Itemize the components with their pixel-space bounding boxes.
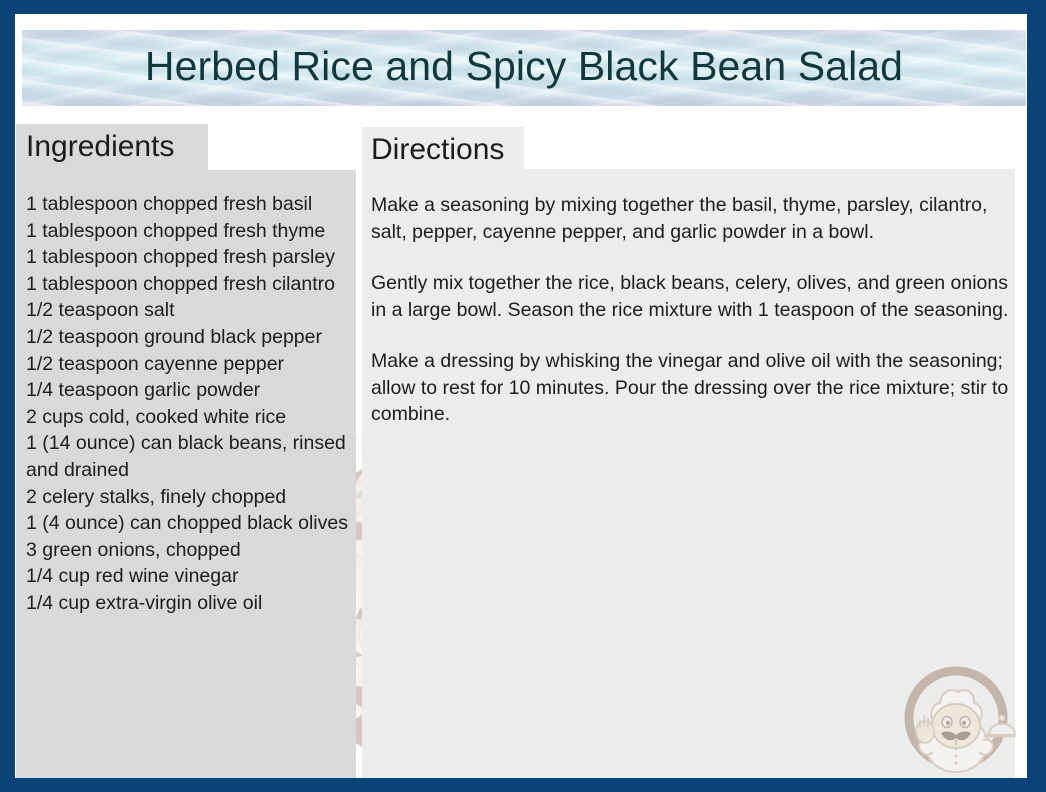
ingredient-item: 1 (4 ounce) can chopped black olives [26,510,350,537]
ingredient-item: 2 celery stalks, finely chopped [26,484,350,511]
direction-paragraph: Make a dressing by whisking the vinegar … [371,348,1009,428]
ingredient-item: 3 green onions, chopped [26,537,350,564]
ingredient-item: 1/4 cup extra-virgin olive oil [26,590,350,617]
ingredient-item: 1 tablespoon chopped fresh parsley [26,244,350,271]
ingredient-item: 2 cups cold, cooked white rice [26,404,350,431]
ingredient-item: 1/2 teaspoon ground black pepper [26,324,350,351]
directions-heading: Directions [371,130,504,170]
slide-canvas: Herbed Rice and Spicy Black Bean Salad I… [15,14,1027,778]
ingredient-item: 1/2 teaspoon salt [26,297,350,324]
directions-body: Make a seasoning by mixing together the … [371,192,1009,428]
ingredient-item: 1 tablespoon chopped fresh basil [26,191,350,218]
ingredient-item: 1 (14 ounce) can black beans, rinsed and… [26,430,350,483]
ingredient-item: 1 tablespoon chopped fresh cilantro [26,271,350,298]
page-title: Herbed Rice and Spicy Black Bean Salad [145,46,903,90]
ingredient-item: 1/4 teaspoon garlic powder [26,377,350,404]
ingredient-item: 1/4 cup red wine vinegar [26,563,350,590]
direction-paragraph: Make a seasoning by mixing together the … [371,192,1009,245]
title-banner: Herbed Rice and Spicy Black Bean Salad [22,30,1026,106]
ingredients-heading: Ingredients [26,127,174,167]
ingredient-item: 1/2 teaspoon cayenne pepper [26,351,350,378]
ingredient-item: 1 tablespoon chopped fresh thyme [26,218,350,245]
ingredients-list: 1 tablespoon chopped fresh basil1 tables… [26,191,350,617]
recipe-card-slide: Herbed Rice and Spicy Black Bean Salad I… [0,0,1046,792]
direction-paragraph: Gently mix together the rice, black bean… [371,270,1009,323]
